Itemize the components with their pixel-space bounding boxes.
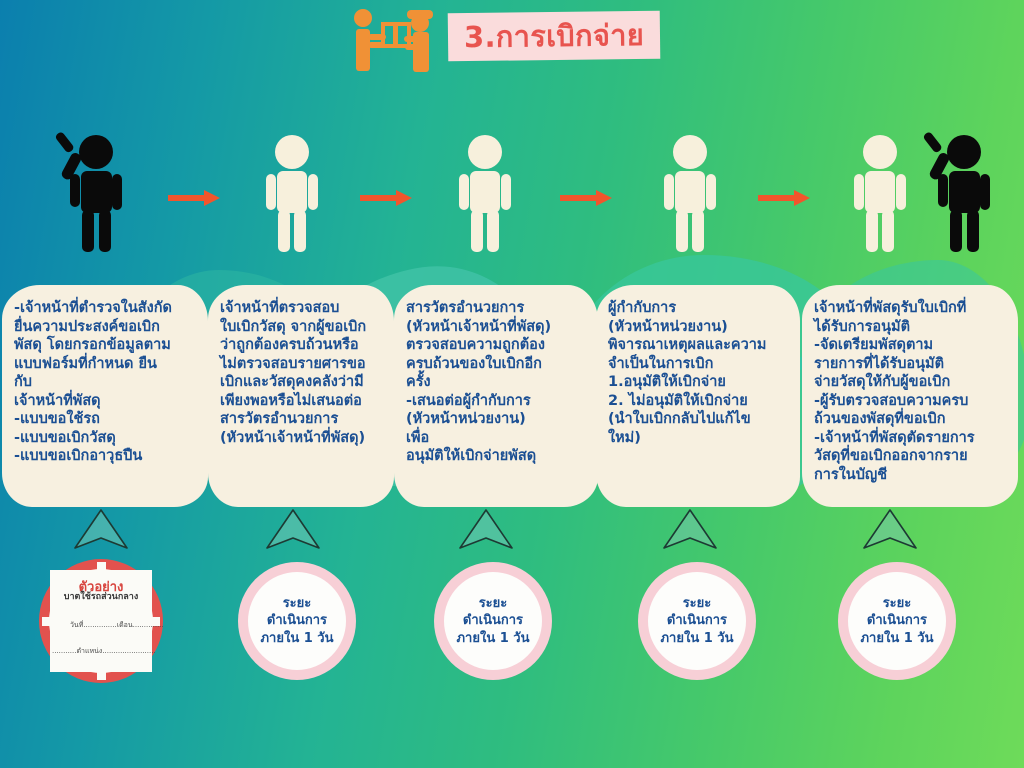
person-icon <box>232 130 352 255</box>
duration-circle-inner: ระยะ ดำเนินการ ภายใน 1 วัน <box>848 572 946 670</box>
up-triangle-icon <box>73 508 129 550</box>
up-triangle-icon <box>458 508 514 550</box>
actor-requester-1: ผู้ยื่นขอเบิก <box>40 130 160 290</box>
step-bubble-text: ผู้กำกับการ (หัวหน้าหน่วยงาน) พิจารณาเหต… <box>608 299 788 447</box>
title-banner: 3.การเบิกจ่าย <box>448 11 661 62</box>
step-bubble-5: เจ้าหน้าที่พัสดุรับใบเบิกที่ ได้รับการอน… <box>802 285 1018 507</box>
actor-supply-officer-1: จนท.พัสดุ <box>232 130 352 290</box>
duration-text: ระยะ ดำเนินการ ภายใน 1 วัน <box>260 595 333 646</box>
duration-circle: ระยะ ดำเนินการ ภายใน 1 วัน <box>238 562 356 680</box>
actor-requester-2: ผู้ยื่นขอเบิก <box>908 130 1024 290</box>
step-bubble-text: เจ้าหน้าที่ตรวจสอบ ใบเบิกวัสดุ จากผู้ขอเ… <box>220 299 382 447</box>
step-bubble-2: เจ้าหน้าที่ตรวจสอบ ใบเบิกวัสดุ จากผู้ขอเ… <box>208 285 394 507</box>
sample-form-stamp: ตัวอย่าง บาตใช้รถส่วนกลาง วันที่........… <box>38 558 164 684</box>
flow-arrow-icon <box>168 190 220 206</box>
duration-circle: ระยะ ดำเนินการ ภายใน 1 วัน <box>638 562 756 680</box>
actor-administration-inspector: สารวัตรอำนวยการ <box>425 130 545 290</box>
page-title: 3.การเบิกจ่าย <box>464 20 644 51</box>
actor-superintendent: ผู้กำกับการ <box>630 130 750 290</box>
flow-arrow-icon <box>758 190 810 206</box>
duration-text: ระยะ ดำเนินการ ภายใน 1 วัน <box>660 595 733 646</box>
flow-arrow-icon <box>360 190 412 206</box>
up-triangle-icon <box>265 508 321 550</box>
stamp-position-line: ...........ตำแหน่ง......................… <box>52 646 156 657</box>
step-bubble-3: สารวัตรอำนวยการ (หัวหน้าเจ้าหน้าที่พัสดุ… <box>394 285 598 507</box>
infographic-canvas: 3.การเบิกจ่าย ผู้ยื่นขอเบิก <box>0 0 1024 768</box>
delivery-handoff-icon <box>347 6 443 76</box>
step-bubble-4: ผู้กำกับการ (หัวหน้าหน่วยงาน) พิจารณาเหต… <box>596 285 800 507</box>
duration-text: ระยะ ดำเนินการ ภายใน 1 วัน <box>860 595 933 646</box>
person-icon-raised-arm <box>40 130 160 255</box>
duration-text: ระยะ ดำเนินการ ภายใน 1 วัน <box>456 595 529 646</box>
person-icon <box>425 130 545 255</box>
duration-circle: ระยะ ดำเนินการ ภายใน 1 วัน <box>434 562 552 680</box>
stamp-subtitle: บาตใช้รถส่วนกลาง <box>38 589 164 603</box>
duration-circle-inner: ระยะ ดำเนินการ ภายใน 1 วัน <box>648 572 746 670</box>
stamp-date-line: วันที่...............เดือน.............. <box>70 620 164 631</box>
flow-arrow-icon <box>560 190 612 206</box>
step-bubble-text: -เจ้าหน้าที่ตำรวจในสังกัด ยื่นความประสงค… <box>14 299 196 466</box>
duration-circle-inner: ระยะ ดำเนินการ ภายใน 1 วัน <box>444 572 542 670</box>
header: 3.การเบิกจ่าย <box>0 0 1024 90</box>
duration-circle-inner: ระยะ ดำเนินการ ภายใน 1 วัน <box>248 572 346 670</box>
duration-circle: ระยะ ดำเนินการ ภายใน 1 วัน <box>838 562 956 680</box>
step-bubble-text: สารวัตรอำนวยการ (หัวหน้าเจ้าหน้าที่พัสดุ… <box>406 299 586 466</box>
person-icon <box>630 130 750 255</box>
step-bubble-text: เจ้าหน้าที่พัสดุรับใบเบิกที่ ได้รับการอน… <box>814 299 1006 484</box>
up-triangle-icon <box>662 508 718 550</box>
step-bubble-1: -เจ้าหน้าที่ตำรวจในสังกัด ยื่นความประสงค… <box>2 285 208 507</box>
up-triangle-icon <box>862 508 918 550</box>
person-icon-raised-arm <box>908 130 1024 255</box>
